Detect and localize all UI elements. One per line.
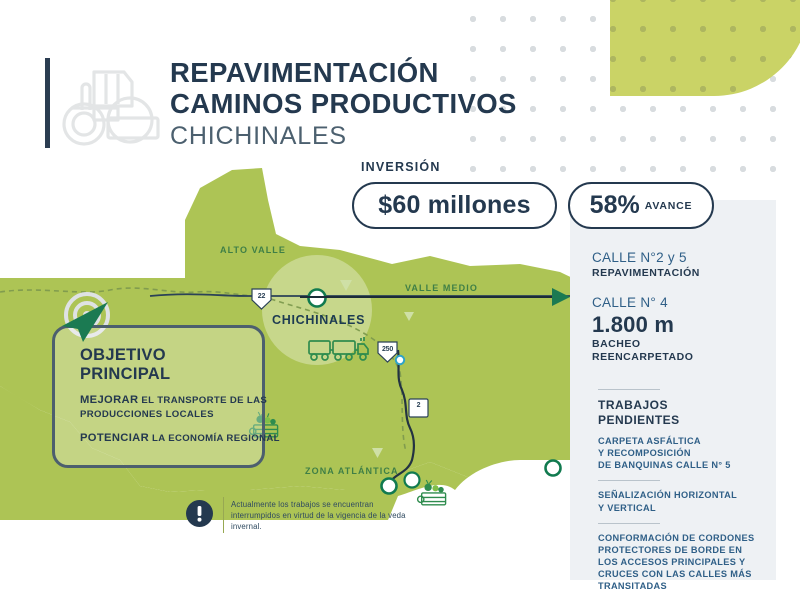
investment-amount: $60 millones — [378, 191, 530, 220]
title-line-2: CAMINOS PRODUCTIVOS — [170, 89, 570, 120]
road-roller-icon — [58, 58, 166, 150]
street-2-subtitle-1: BACHEO — [592, 338, 772, 352]
route-shield-2: 2 — [408, 397, 429, 419]
title-line-1: REPAVIMENTACIÓN — [170, 58, 570, 89]
objective-point-1-lead: MEJORAR — [80, 394, 138, 406]
pending-item: CARPETA ASFÁLTICA Y RECOMPOSICIÓN DE BAN… — [598, 435, 776, 471]
map-label-valle-medio: VALLE MEDIO — [405, 283, 478, 293]
objective-point-2-rest: LA ECONOMÍA REGIONAL — [149, 433, 280, 444]
investment-amount-pill: $60 millones — [352, 182, 557, 229]
pending-item: CONFORMACIÓN DE CORDONES PROTECTORES DE … — [598, 532, 776, 593]
pending-item: SEÑALIZACIÓN HORIZONTAL Y VERTICAL — [598, 489, 776, 513]
map-label-zona-atlantica: ZONA ATLÁNTICA — [305, 466, 399, 476]
investment-label: INVERSIÓN — [361, 160, 441, 174]
divider — [598, 480, 660, 481]
pending-works-block: TRABAJOS PENDIENTES CARPETA ASFÁLTICA Y … — [598, 380, 776, 592]
street-1-title: CALLE N°2 y 5 — [592, 250, 772, 267]
objective-arrow-icon — [58, 300, 110, 344]
objective-heading-line1: OBJETIVO — [80, 346, 280, 365]
route-shield-22-number: 22 — [251, 293, 272, 300]
objective-point-1: MEJORAR EL TRANSPORTE DE LAS PRODUCCIONE… — [80, 393, 280, 422]
pending-title-line1: TRABAJOS — [598, 398, 776, 413]
divider — [598, 389, 660, 390]
map-label-chichinales: CHICHINALES — [272, 313, 365, 327]
infographic-canvas: ALTO VALLE VALLE MEDIO ZONA ATLÁNTICA CH… — [0, 0, 800, 600]
progress-label: AVANCE — [645, 200, 693, 212]
route-shield-22: 22 — [251, 288, 272, 310]
title-subtitle: CHICHINALES — [170, 121, 570, 151]
note-text: Actualmente los trabajos se encuentran i… — [231, 499, 411, 532]
route-shield-250: 250 — [377, 341, 398, 363]
progress-pill: 58% AVANCE — [568, 182, 714, 229]
connector-arrow-icon — [552, 288, 570, 306]
street-2-subtitle-2: REENCARPETADO — [592, 351, 772, 365]
street-2-title: CALLE N° 4 — [592, 295, 772, 312]
route-shield-250-number: 250 — [377, 346, 398, 353]
objective-point-2-lead: POTENCIAR — [80, 432, 149, 444]
works-streets-block: CALLE N°2 y 5 REPAVIMENTACIÓN CALLE N° 4… — [592, 250, 772, 365]
map-label-alto-valle: ALTO VALLE — [220, 245, 286, 255]
pending-title-line2: PENDIENTES — [598, 413, 776, 428]
progress-value: 58% — [590, 191, 640, 220]
route-shield-2-number: 2 — [408, 402, 429, 409]
divider — [598, 523, 660, 524]
header-accent-rule — [45, 58, 50, 148]
street-1-subtitle: REPAVIMENTACIÓN — [592, 267, 772, 281]
connector-line — [300, 296, 555, 298]
note-divider — [223, 497, 224, 533]
street-2-length: 1.800 m — [592, 313, 772, 337]
objective-heading-line2: PRINCIPAL — [80, 365, 280, 384]
objective-point-2: POTENCIAR LA ECONOMÍA REGIONAL — [80, 431, 280, 446]
page-title: REPAVIMENTACIÓN CAMINOS PRODUCTIVOS CHIC… — [170, 58, 570, 151]
objective-text-block: OBJETIVO PRINCIPAL MEJORAR EL TRANSPORTE… — [80, 346, 280, 446]
exclamation-icon — [186, 500, 213, 527]
